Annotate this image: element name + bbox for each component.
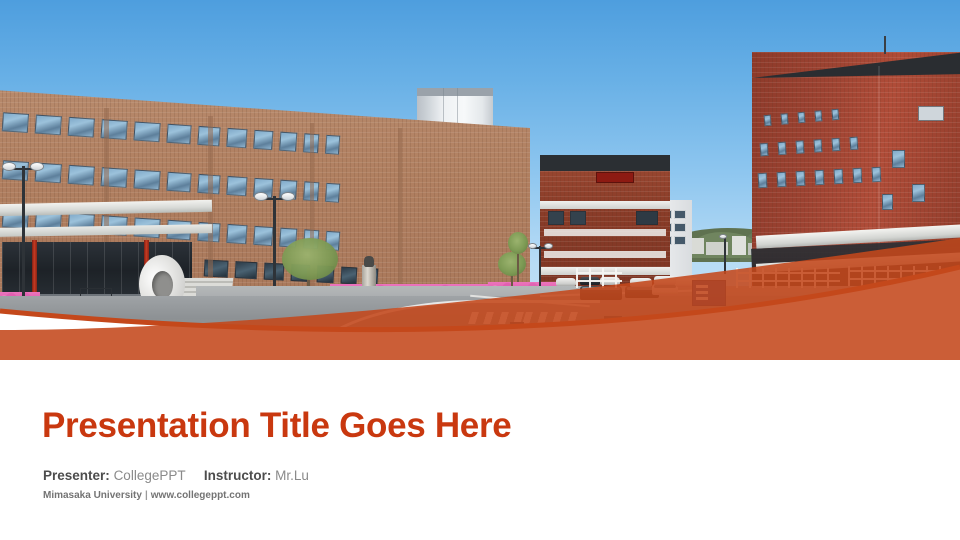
separator: | (142, 490, 151, 501)
lamp-post (2, 156, 46, 316)
roof (540, 155, 670, 171)
website-url[interactable]: www.collegeppt.com (151, 490, 250, 501)
guardrail (736, 268, 840, 288)
parked-car (630, 278, 652, 287)
parked-car (652, 284, 678, 295)
building-sign (596, 172, 634, 183)
slide-footer-area: Presentation Title Goes Here Presenter: … (0, 360, 960, 540)
organization-line: Mimasaka University|www.collegeppt.com (43, 490, 250, 501)
presenter-line: Presenter: CollegePPT Instructor: Mr.Lu (43, 468, 309, 483)
page-title: Presentation Title Goes Here (42, 406, 511, 446)
monument-bust (364, 256, 374, 267)
parked-car (654, 276, 676, 285)
window (892, 150, 905, 168)
parked-car (580, 286, 622, 300)
presentation-slide: Presentation Title Goes Here Presenter: … (0, 0, 960, 540)
window (918, 106, 944, 121)
presenter-label: Presenter: (43, 468, 110, 483)
parked-car (556, 278, 576, 286)
organization-name: Mimasaka University (43, 490, 142, 501)
window (882, 194, 893, 210)
instructor-value: Mr.Lu (275, 468, 309, 483)
tree (508, 232, 528, 282)
lamp-post (716, 232, 734, 274)
instructor-label: Instructor: (204, 468, 272, 483)
crosswalk (522, 312, 584, 324)
campus-photo (0, 0, 960, 360)
tower-cap (417, 88, 493, 96)
information-sign (692, 280, 726, 306)
right-brick-building (752, 52, 960, 288)
campus-photo-banner (0, 0, 960, 360)
roof-mast (884, 36, 886, 54)
window (912, 184, 925, 202)
guardrail (576, 268, 622, 288)
presenter-value: CollegePPT (114, 468, 186, 483)
distant-building (732, 236, 746, 255)
